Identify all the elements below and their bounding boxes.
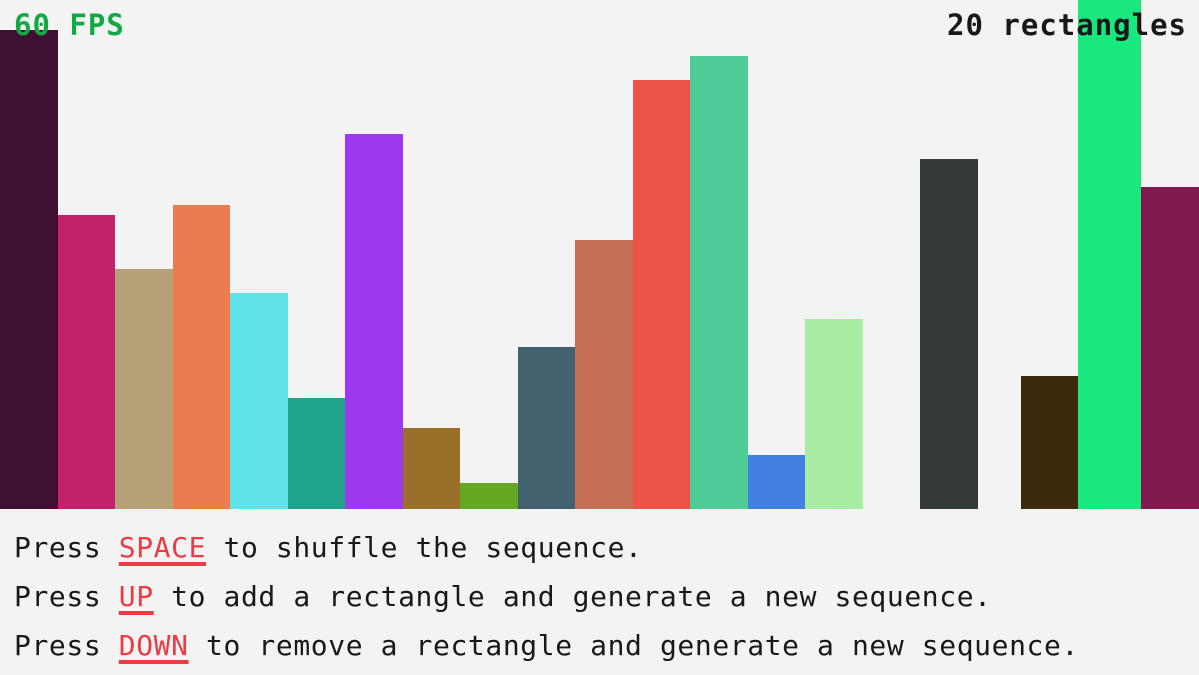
- chart-bar: [460, 483, 518, 509]
- bar-chart-plot: [0, 0, 1199, 509]
- keyboard-key-down[interactable]: DOWN: [119, 629, 189, 662]
- chart-bar: [345, 134, 403, 509]
- instruction-suffix: to shuffle the sequence.: [206, 531, 642, 564]
- chart-bar: [690, 56, 748, 509]
- chart-bar: [1078, 0, 1141, 509]
- instructions-panel: Press SPACE to shuffle the sequence.Pres…: [14, 523, 1184, 670]
- chart-bar: [920, 159, 978, 509]
- keyboard-key-space[interactable]: SPACE: [119, 531, 206, 564]
- chart-bar: [575, 240, 633, 509]
- chart-bar: [1021, 376, 1079, 509]
- instruction-prefix: Press: [14, 580, 119, 613]
- instruction-line: Press UP to add a rectangle and generate…: [14, 572, 1184, 621]
- chart-bar: [288, 398, 346, 509]
- fps-counter: 60 FPS: [14, 11, 125, 40]
- instruction-line: Press SPACE to shuffle the sequence.: [14, 523, 1184, 572]
- chart-bar: [1141, 187, 1199, 509]
- chart-bar: [230, 293, 288, 509]
- chart-bar: [58, 215, 116, 509]
- instruction-line: Press DOWN to remove a rectangle and gen…: [14, 621, 1184, 670]
- instruction-suffix: to remove a rectangle and generate a new…: [189, 629, 1079, 662]
- game-canvas: 60 FPS 20 rectangles Press SPACE to shuf…: [0, 0, 1199, 675]
- chart-bar: [173, 205, 231, 509]
- chart-bar: [518, 347, 576, 509]
- chart-bar: [805, 319, 863, 509]
- chart-bar: [748, 455, 806, 509]
- keyboard-key-up[interactable]: UP: [119, 580, 154, 613]
- instruction-suffix: to add a rectangle and generate a new se…: [154, 580, 992, 613]
- chart-bar: [633, 80, 691, 509]
- chart-bar: [115, 269, 173, 509]
- instruction-prefix: Press: [14, 531, 119, 564]
- chart-bar: [0, 30, 58, 509]
- rectangle-count-label: 20 rectangles: [947, 11, 1187, 40]
- chart-bar: [403, 428, 461, 509]
- instruction-prefix: Press: [14, 629, 119, 662]
